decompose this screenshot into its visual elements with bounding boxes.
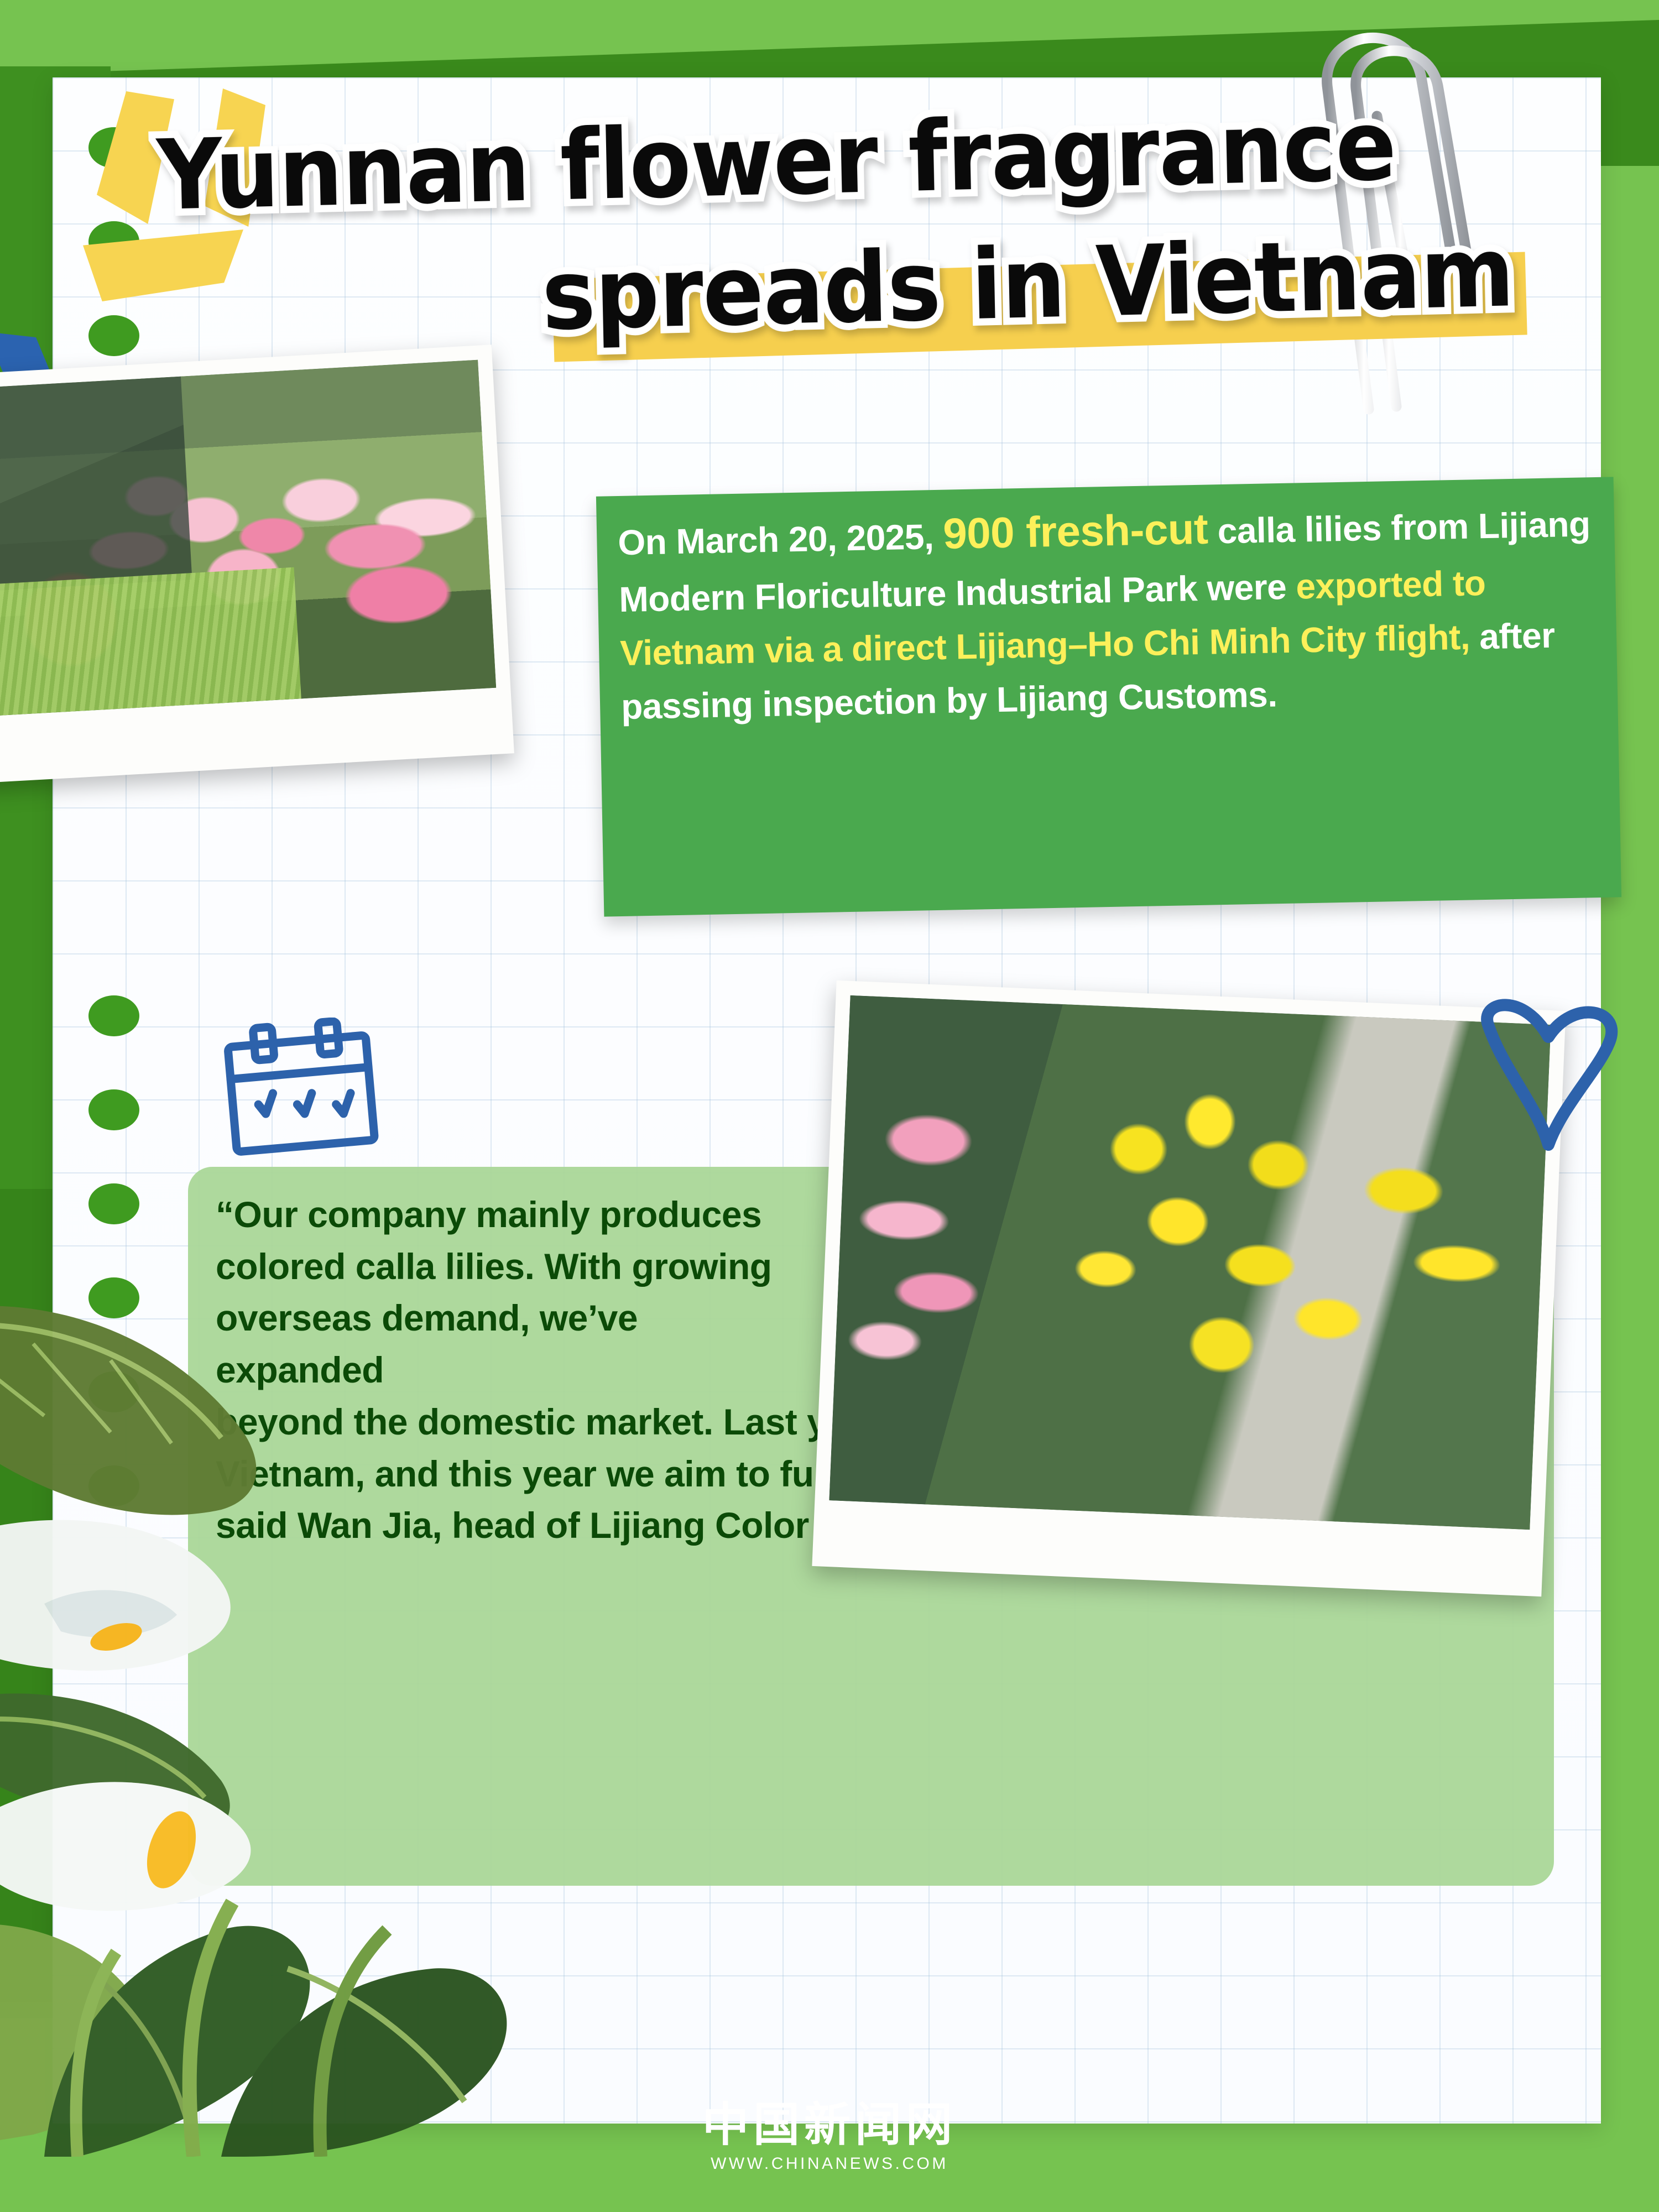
info-seg-1: 900 fresh-cut [943,504,1209,558]
punch-dot [88,995,139,1036]
photo-image [0,360,496,717]
calendar-doodle-icon [216,1018,393,1172]
footer: 中国新闻网 WWW.CHINANEWS.COM [0,2101,1659,2173]
heart-doodle-icon [1471,995,1637,1161]
punch-dot [88,1183,139,1224]
chinanews-logo: 中国新闻网 [0,2101,1659,2148]
calla-lily-illustration [0,1250,625,2157]
chinanews-url: WWW.CHINANEWS.COM [0,2154,1659,2173]
page-title: Yunnan flower fragrance spreads in Vietn… [144,127,1559,346]
info-box-text: On March 20, 2025, 900 fresh-cut calla l… [617,488,1611,734]
photo-image [829,995,1551,1530]
greenhouse-calla-rows-photo[interactable] [812,980,1566,1597]
info-seg-0: On March 20, 2025, [618,517,943,562]
title-line-1: Yunnan flower fragrance [156,95,1462,226]
pink-calla-bouquet-photo[interactable] [0,345,514,784]
title-line-2: spreads in Vietnam [541,224,1489,346]
punch-dot [88,1089,139,1130]
